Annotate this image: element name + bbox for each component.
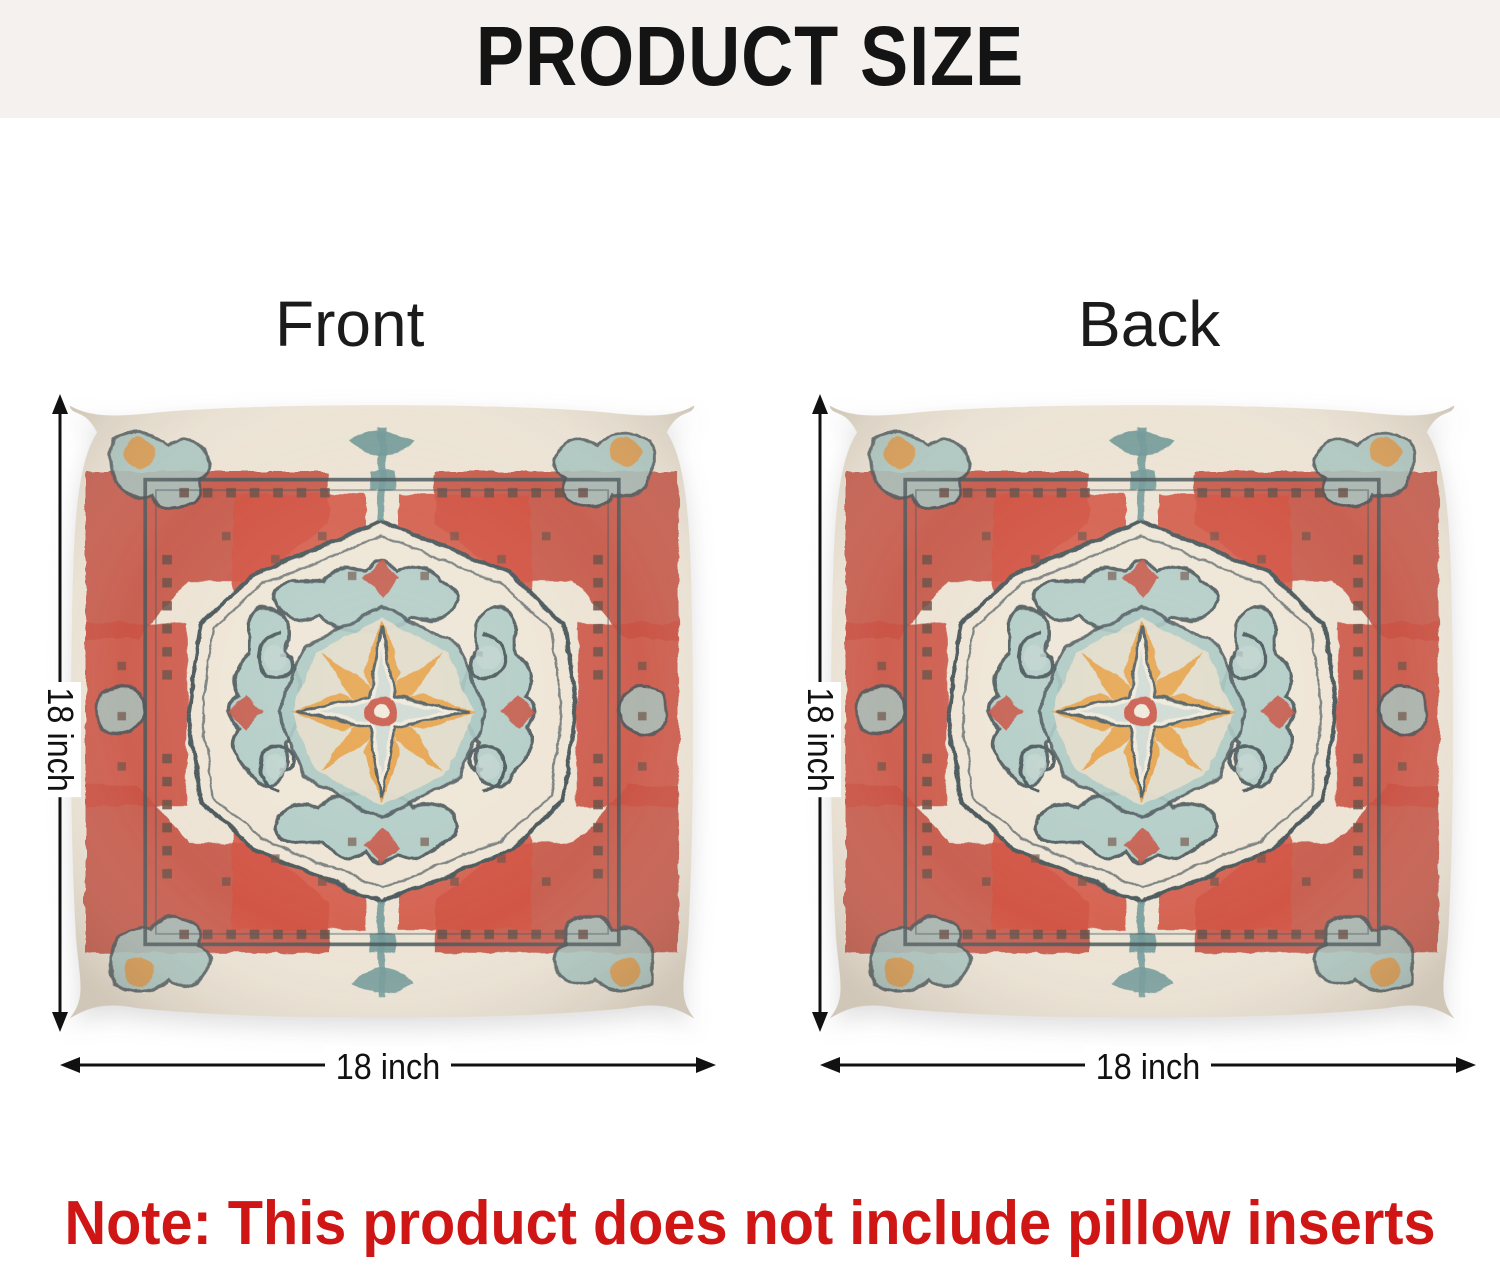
height-dimension-back: 18 inch <box>790 392 850 1034</box>
pillow-back-image <box>822 398 1462 1026</box>
height-dimension-front: 18 inch <box>30 392 90 1034</box>
width-dimension-front: 18 inch <box>58 1042 718 1088</box>
width-dimension-label-front: 18 inch <box>91 1046 685 1088</box>
page-title: PRODUCT SIZE <box>105 14 1395 98</box>
width-dimension-back: 18 inch <box>818 1042 1478 1088</box>
product-size-infographic: PRODUCT SIZE Front Back <box>0 0 1500 1271</box>
height-dimension-label-back: 18 inch <box>799 682 841 736</box>
view-label-front: Front <box>275 292 424 356</box>
view-label-back: Back <box>1078 292 1220 356</box>
height-dimension-label-front: 18 inch <box>39 682 81 736</box>
width-dimension-label-back: 18 inch <box>851 1046 1445 1088</box>
disclaimer-note: Note: This product does not include pill… <box>53 1193 1448 1255</box>
pillow-front-image <box>62 398 702 1026</box>
